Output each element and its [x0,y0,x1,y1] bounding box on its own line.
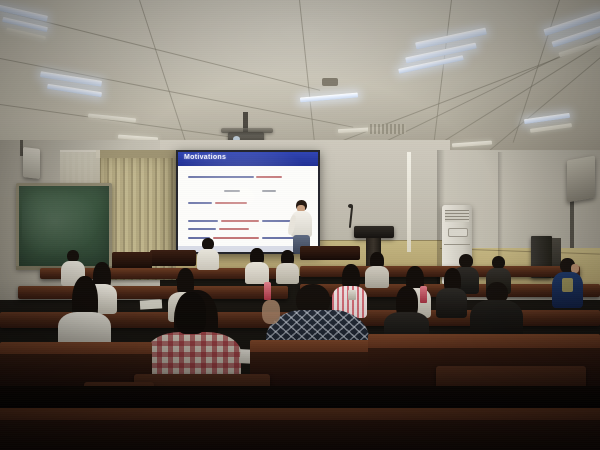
lecture-hall-photo: Motivations [0,0,600,450]
stage-side-table [150,250,196,266]
audience-torso [245,262,269,284]
audience-member [196,238,220,270]
air-conditioner-seam [444,244,470,245]
lectern-top [354,226,394,238]
speaker-bracket [570,200,574,248]
audience-member [58,276,112,352]
audience-hair [176,292,206,334]
audience-torso [197,249,219,270]
ceiling-vent [322,78,338,86]
audience-hand [262,300,280,324]
wall-speaker-right [567,156,595,203]
floor-aisle [0,386,600,408]
audience-head [459,254,473,268]
stage-front-table [300,246,360,260]
ceiling-air-diffuser [368,124,406,134]
wall-speaker-left [23,147,40,179]
audience-member [436,268,468,318]
air-conditioner-grille [445,210,469,222]
lecture-desk-front [0,420,600,450]
curtain-rail [96,150,176,158]
audience-member [276,250,300,284]
projector-bracket [221,128,273,133]
audience-torso [276,263,299,284]
audience-navy-shirt [550,258,584,308]
air-conditioner-panel[interactable] [448,228,468,237]
wall-light-strip [407,152,411,252]
audience-torso [436,288,467,318]
paper-sheet [140,299,162,309]
microphone-head [348,204,353,208]
audience-member [244,248,270,284]
audience-collar-detail [562,278,573,292]
